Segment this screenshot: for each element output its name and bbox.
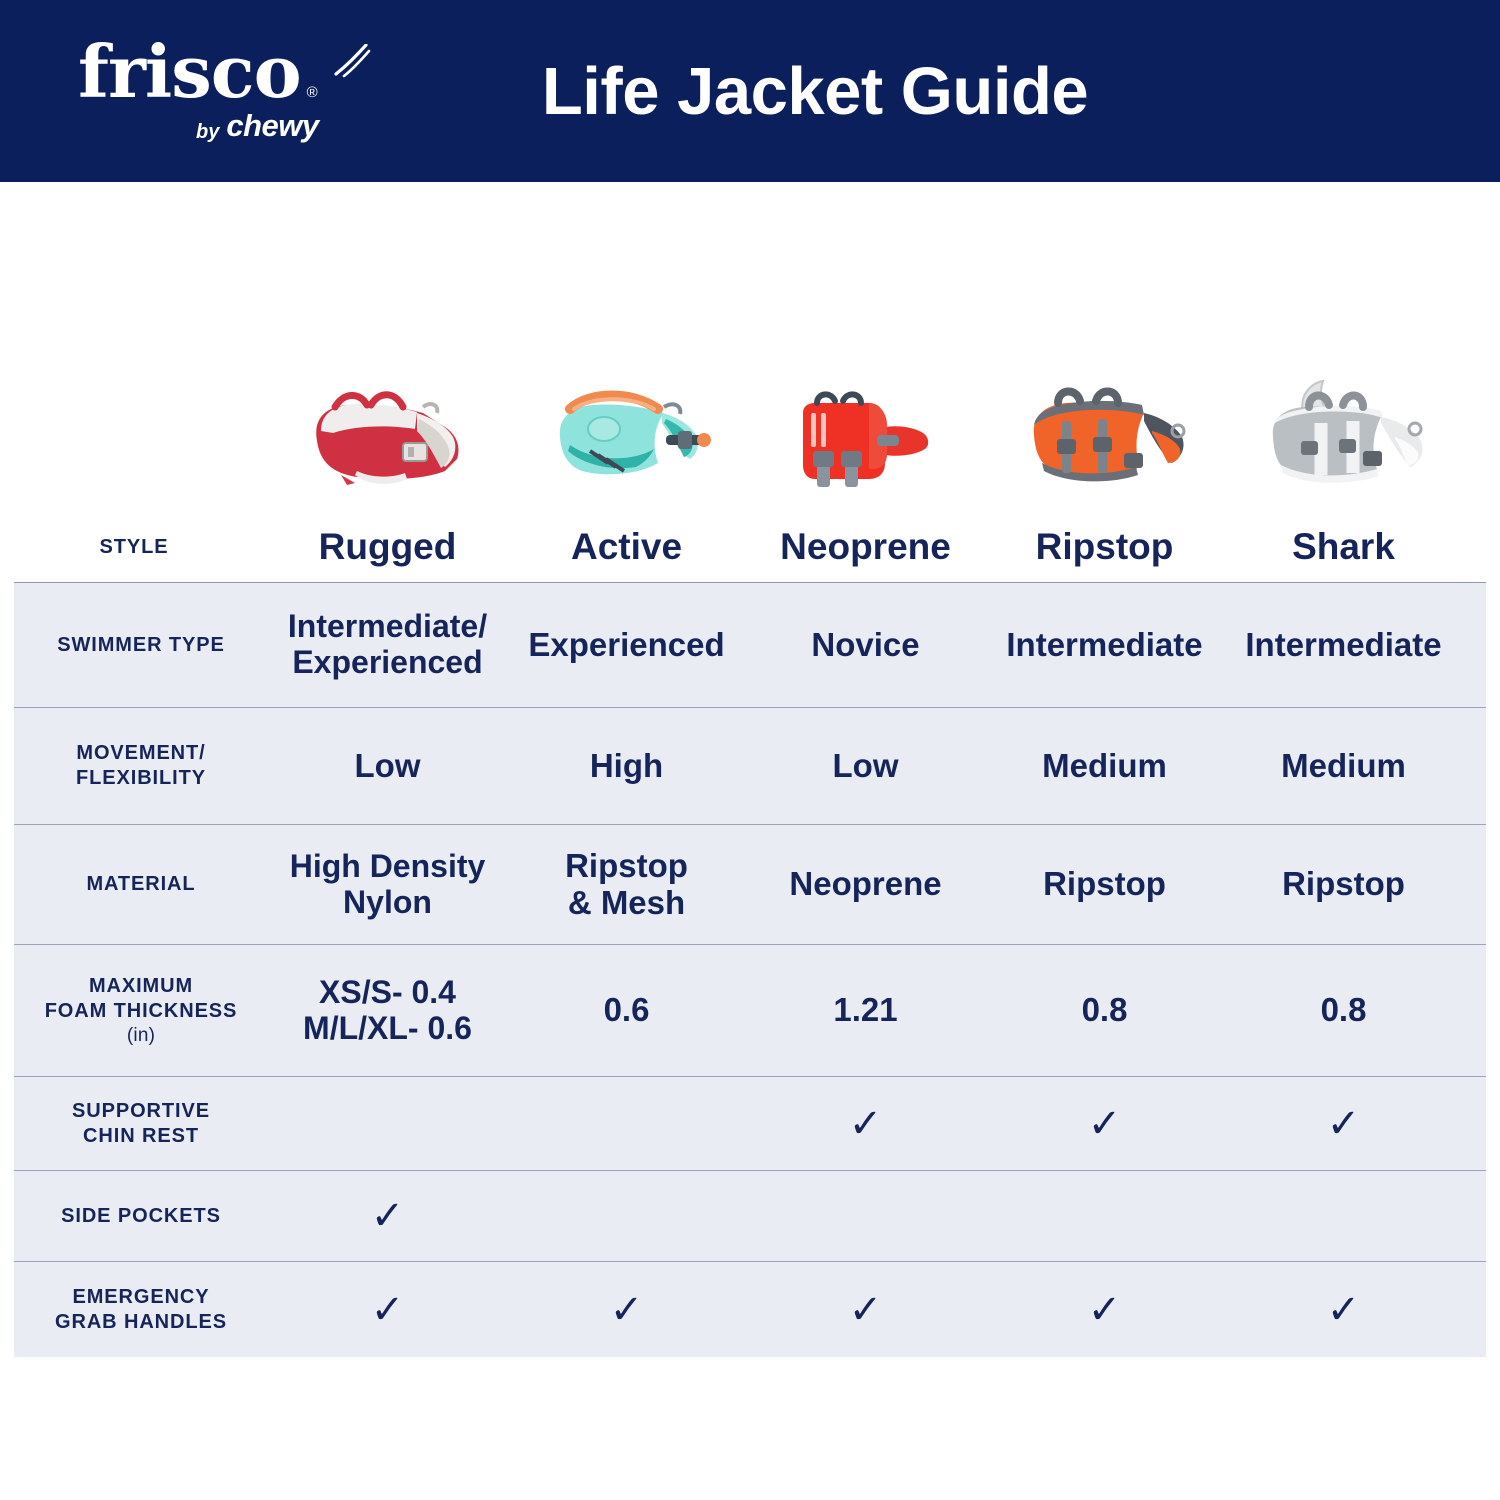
page-header: frisco ® by chewy Life Jacket Guide bbox=[0, 0, 1500, 182]
product-image-neoprene bbox=[746, 379, 985, 512]
cell-emergency-grab-handles-ripstop: ✓ bbox=[985, 1262, 1224, 1357]
cell-maximum-foam-thickness-active: 0.6 bbox=[507, 945, 746, 1076]
cell-material-rugged: High Density Nylon bbox=[268, 825, 507, 944]
check-icon: ✓ bbox=[1327, 1104, 1361, 1144]
cell-side-pockets-neoprene bbox=[746, 1171, 985, 1261]
cell-side-pockets-ripstop bbox=[985, 1171, 1224, 1261]
table-row: MAXIMUM FOAM THICKNESS(in)XS/S- 0.4 M/L/… bbox=[0, 945, 1500, 1076]
table-row: SWIMMER TYPEIntermediate/ ExperiencedExp… bbox=[0, 583, 1500, 707]
check-icon: ✓ bbox=[849, 1290, 883, 1330]
check-icon: ✓ bbox=[1327, 1290, 1361, 1330]
row-label-swimmer-type: SWIMMER TYPE bbox=[14, 583, 268, 707]
cell-material-active: Ripstop & Mesh bbox=[507, 825, 746, 944]
row-label-side-pockets: SIDE POCKETS bbox=[14, 1171, 268, 1261]
cell-swimmer-type-active: Experienced bbox=[507, 583, 746, 707]
style-name-shark: Shark bbox=[1224, 512, 1463, 582]
red-neoprene-dog-life-jacket-icon bbox=[773, 379, 958, 504]
cell-emergency-grab-handles-shark: ✓ bbox=[1224, 1262, 1463, 1357]
table-row: SIDE POCKETS✓ bbox=[0, 1171, 1500, 1261]
row-label-style: STYLE bbox=[0, 512, 268, 582]
cell-supportive-chin-rest-rugged bbox=[268, 1077, 507, 1170]
cell-side-pockets-shark bbox=[1224, 1171, 1463, 1261]
check-icon: ✓ bbox=[371, 1196, 405, 1236]
product-image-row bbox=[0, 182, 1500, 512]
check-icon: ✓ bbox=[610, 1290, 644, 1330]
product-image-ripstop bbox=[985, 379, 1224, 512]
row-supportive-chin-rest: SUPPORTIVE CHIN REST✓✓✓ bbox=[14, 1077, 1486, 1170]
row-emergency-grab-handles: EMERGENCY GRAB HANDLES✓✓✓✓✓ bbox=[14, 1262, 1486, 1357]
row-label-text: SWIMMER TYPE bbox=[57, 633, 224, 658]
life-jacket-comparison-table: STYLE Rugged Active Neoprene Ripstop Sha… bbox=[0, 182, 1500, 1357]
cell-maximum-foam-thickness-neoprene: 1.21 bbox=[746, 945, 985, 1076]
cell-swimmer-type-rugged: Intermediate/ Experienced bbox=[268, 583, 507, 707]
row-label-emergency-grab-handles: EMERGENCY GRAB HANDLES bbox=[14, 1262, 268, 1357]
cell-side-pockets-rugged: ✓ bbox=[268, 1171, 507, 1261]
row-label-movement-flexibility: MOVEMENT/ FLEXIBILITY bbox=[14, 708, 268, 824]
style-name-neoprene: Neoprene bbox=[746, 512, 985, 582]
orange-gray-ripstop-dog-life-jacket-icon bbox=[1012, 379, 1197, 504]
style-name-rugged: Rugged bbox=[268, 512, 507, 582]
cell-supportive-chin-rest-shark: ✓ bbox=[1224, 1077, 1463, 1170]
cell-material-shark: Ripstop bbox=[1224, 825, 1463, 944]
cell-supportive-chin-rest-ripstop: ✓ bbox=[985, 1077, 1224, 1170]
row-label-maximum-foam-thickness: MAXIMUM FOAM THICKNESS(in) bbox=[14, 945, 268, 1076]
row-movement-flexibility: MOVEMENT/ FLEXIBILITYLowHighLowMediumMed… bbox=[14, 708, 1486, 824]
style-name-ripstop: Ripstop bbox=[985, 512, 1224, 582]
product-image-active bbox=[507, 379, 746, 512]
table-row: MOVEMENT/ FLEXIBILITYLowHighLowMediumMed… bbox=[0, 708, 1500, 824]
table-body: SWIMMER TYPEIntermediate/ ExperiencedExp… bbox=[0, 583, 1500, 1357]
check-icon: ✓ bbox=[371, 1290, 405, 1330]
cell-emergency-grab-handles-rugged: ✓ bbox=[268, 1262, 507, 1357]
cell-supportive-chin-rest-active bbox=[507, 1077, 746, 1170]
row-label-supportive-chin-rest: SUPPORTIVE CHIN REST bbox=[14, 1077, 268, 1170]
cell-maximum-foam-thickness-ripstop: 0.8 bbox=[985, 945, 1224, 1076]
row-label-material: MATERIAL bbox=[14, 825, 268, 944]
row-side-pockets: SIDE POCKETS✓ bbox=[14, 1171, 1486, 1261]
row-label-unit: (in) bbox=[127, 1024, 155, 1048]
page-title: Life Jacket Guide bbox=[0, 53, 1500, 130]
row-label-text: MAXIMUM FOAM THICKNESS bbox=[45, 974, 238, 1024]
table-row: EMERGENCY GRAB HANDLES✓✓✓✓✓ bbox=[0, 1262, 1500, 1357]
product-image-shark bbox=[1224, 379, 1463, 512]
style-header-row: STYLE Rugged Active Neoprene Ripstop Sha… bbox=[0, 512, 1500, 582]
row-label-text: MATERIAL bbox=[86, 872, 195, 897]
check-icon: ✓ bbox=[1088, 1290, 1122, 1330]
cell-material-ripstop: Ripstop bbox=[985, 825, 1224, 944]
red-white-rugged-dog-life-jacket-icon bbox=[295, 379, 480, 504]
cell-maximum-foam-thickness-rugged: XS/S- 0.4 M/L/XL- 0.6 bbox=[268, 945, 507, 1076]
cell-swimmer-type-shark: Intermediate bbox=[1224, 583, 1463, 707]
cell-movement-flexibility-active: High bbox=[507, 708, 746, 824]
table-row: SUPPORTIVE CHIN REST✓✓✓ bbox=[0, 1077, 1500, 1170]
row-label-text: SUPPORTIVE CHIN REST bbox=[72, 1099, 210, 1149]
cell-emergency-grab-handles-active: ✓ bbox=[507, 1262, 746, 1357]
teal-orange-active-dog-life-jacket-icon bbox=[534, 379, 719, 504]
check-icon: ✓ bbox=[849, 1104, 883, 1144]
cell-emergency-grab-handles-neoprene: ✓ bbox=[746, 1262, 985, 1357]
check-icon: ✓ bbox=[1088, 1104, 1122, 1144]
row-material: MATERIALHigh Density NylonRipstop & Mesh… bbox=[14, 825, 1486, 944]
cell-material-neoprene: Neoprene bbox=[746, 825, 985, 944]
cell-movement-flexibility-rugged: Low bbox=[268, 708, 507, 824]
cell-supportive-chin-rest-neoprene: ✓ bbox=[746, 1077, 985, 1170]
cell-swimmer-type-ripstop: Intermediate bbox=[985, 583, 1224, 707]
style-name-active: Active bbox=[507, 512, 746, 582]
cell-swimmer-type-neoprene: Novice bbox=[746, 583, 985, 707]
product-image-rugged bbox=[268, 379, 507, 512]
cell-movement-flexibility-ripstop: Medium bbox=[985, 708, 1224, 824]
gray-white-shark-fin-dog-life-jacket-icon bbox=[1251, 379, 1436, 504]
row-maximum-foam-thickness: MAXIMUM FOAM THICKNESS(in)XS/S- 0.4 M/L/… bbox=[14, 945, 1486, 1076]
row-swimmer-type: SWIMMER TYPEIntermediate/ ExperiencedExp… bbox=[14, 583, 1486, 707]
table-row: MATERIALHigh Density NylonRipstop & Mesh… bbox=[0, 825, 1500, 944]
cell-maximum-foam-thickness-shark: 0.8 bbox=[1224, 945, 1463, 1076]
row-label-text: EMERGENCY GRAB HANDLES bbox=[55, 1285, 227, 1335]
cell-side-pockets-active bbox=[507, 1171, 746, 1261]
cell-movement-flexibility-shark: Medium bbox=[1224, 708, 1463, 824]
cell-movement-flexibility-neoprene: Low bbox=[746, 708, 985, 824]
row-label-text: SIDE POCKETS bbox=[61, 1204, 221, 1229]
row-label-text: MOVEMENT/ FLEXIBILITY bbox=[76, 741, 206, 791]
